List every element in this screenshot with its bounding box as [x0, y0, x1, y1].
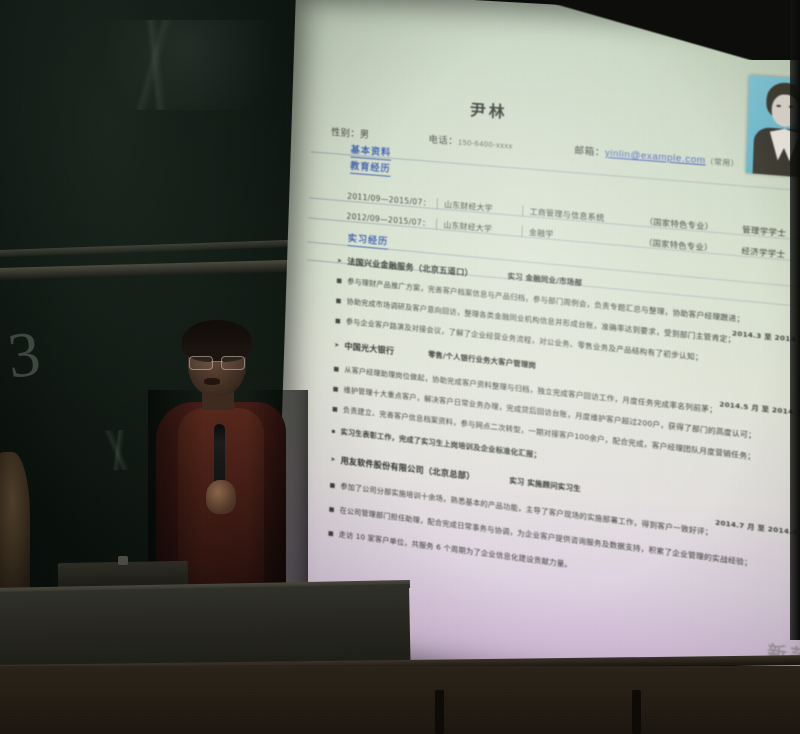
phone-label: 电话：	[428, 134, 458, 146]
bullet-marker-icon: ■	[329, 481, 335, 491]
bullet-marker-icon: ➤	[334, 340, 340, 350]
bullet-marker-icon: ■	[336, 296, 342, 306]
glasses-icon	[188, 356, 246, 368]
phone-value: 150-6400-xxxx	[458, 139, 513, 150]
bullet-text: 用友软件股份有限公司（北京总部）	[340, 456, 474, 482]
education-note: （国家特色专业）	[645, 215, 743, 235]
education-note: （国家特色专业）	[644, 236, 742, 256]
education-date: 2011/09—2015/07：	[347, 190, 437, 209]
bullet-marker-icon: ➤	[337, 256, 343, 266]
education-school: 山东财经大学	[436, 218, 522, 237]
chalkboard-rail	[0, 259, 330, 280]
gender-label: 性别：	[331, 127, 360, 139]
bullet-tag: 实习 金融同业/市场部	[507, 272, 582, 288]
education-date: 2012/09—2015/07：	[346, 210, 436, 229]
gender-field: 性别：男	[331, 125, 370, 141]
resume-name: 尹林	[470, 98, 508, 122]
bullet-text: 中国光大银行	[344, 342, 394, 357]
email-value: yinlin@example.com	[605, 147, 706, 165]
desk-leg	[435, 690, 444, 734]
desk-leg	[632, 690, 641, 734]
bullet-marker-icon: ■	[329, 505, 335, 515]
speaker-mouth	[204, 378, 220, 385]
bullet-date: 2014.5 月 至 2014.7 月	[719, 400, 800, 419]
education-school: 山东财经大学	[437, 198, 523, 216]
email-field: 邮箱：yinlin@example.com（常用）	[574, 143, 739, 169]
glasses-lens-right	[221, 356, 245, 370]
right-wall-edge	[790, 0, 800, 640]
bullet-tag: 零售/个人银行业务大客户管理岗	[428, 350, 536, 370]
section-heading-experience: 实习经历	[348, 231, 389, 250]
contact-line: 性别：男 电话：150-6400-xxxx 邮箱：yinlin@example.…	[331, 125, 789, 173]
chalk-writing-top	[40, 20, 270, 110]
chalk-mark-digit: 3	[4, 317, 44, 394]
education-major: 金融学	[521, 225, 644, 247]
glasses-lens-left	[189, 356, 213, 370]
section-heading-education: 教育经历	[350, 159, 391, 177]
bullet-marker-icon: ■	[335, 316, 341, 326]
gender-value: 男	[360, 129, 370, 140]
lecture-hall-screenshot: 3 尹林 性别：男 电话：150-6400-xxxx 邮箱：yinlin@exa…	[0, 0, 800, 734]
email-label: 邮箱：	[574, 145, 605, 158]
phone-field: 电话：150-6400-xxxx	[428, 132, 513, 152]
bullet-marker-icon: ■	[336, 276, 342, 286]
bullet-marker-icon: ■	[333, 385, 339, 395]
bullet-marker-icon: ■	[333, 365, 339, 375]
bullet-marker-icon: ▪	[331, 427, 336, 437]
lectern-knob	[118, 556, 128, 565]
front-desk	[0, 666, 800, 734]
bullet-tag: 实习 实施顾问实习生	[509, 476, 581, 494]
bullet-marker-icon: ➤	[330, 455, 336, 465]
id-photo-eye-left	[776, 105, 781, 107]
education-major: 工商管理与信息系统	[522, 205, 645, 227]
ceiling-shadow	[300, 0, 800, 60]
bullet-text: 法国兴业金融服务（北京五道口）	[347, 257, 473, 279]
email-suffix: （常用）	[706, 158, 740, 168]
bullet-marker-icon: ■	[332, 405, 338, 415]
bullet-marker-icon: ■	[328, 529, 334, 539]
